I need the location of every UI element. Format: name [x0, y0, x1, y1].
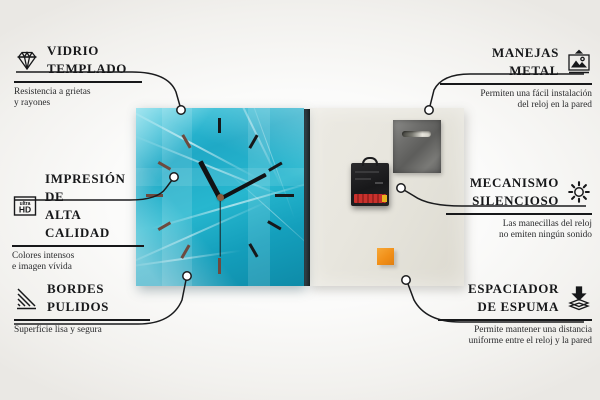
feature-impresion-alta-calidad[interactable]: ultra HD IMPRESIÓN DE ALTA CALIDAD Color…	[12, 170, 144, 273]
hour-marker-6	[218, 258, 221, 274]
feature-heading: VIDRIO TEMPLADO	[14, 42, 142, 78]
hour-marker-12	[218, 118, 221, 133]
feature-title: BORDES PULIDOS	[47, 280, 109, 316]
product-image	[136, 108, 464, 286]
diamond-icon	[14, 47, 40, 73]
arrow-onto-layers-icon	[566, 285, 592, 311]
feature-title: MECANISMO SILENCIOSO	[470, 174, 559, 210]
quartz-clock-mechanism	[351, 163, 389, 206]
divider	[12, 245, 144, 247]
mechanism-hook	[362, 157, 378, 166]
feature-title: VIDRIO TEMPLADO	[47, 42, 127, 78]
clock-back-panel	[309, 108, 464, 286]
feature-description: Resistencia a grietas y rayones	[14, 87, 142, 110]
feature-heading: MANEJAS METAL	[440, 44, 592, 80]
feature-description: Superficie lisa y segura	[14, 325, 150, 336]
ultra-hd-icon: ultra HD	[12, 193, 38, 219]
mechanism-detail	[375, 182, 383, 184]
feature-bordes-pulidos[interactable]: BORDES PULIDOS Superficie lisa y segura	[14, 280, 150, 336]
hanger-slot	[402, 131, 431, 137]
feature-title: ESPACIADOR DE ESPUMA	[468, 280, 559, 316]
feature-title: MANEJAS METAL	[492, 44, 559, 80]
hour-marker-3	[275, 194, 294, 197]
mechanism-detail	[355, 171, 379, 173]
feature-heading: BORDES PULIDOS	[14, 280, 150, 316]
feature-description: Las manecillas del reloj no emiten ningú…	[446, 219, 592, 242]
hour-marker-9	[146, 194, 163, 197]
picture-frame-hanging-icon	[566, 49, 592, 75]
clock-center-pin	[217, 194, 224, 201]
battery-terminal	[382, 195, 387, 202]
svg-text:HD: HD	[19, 205, 31, 215]
feature-vidrio-templado[interactable]: VIDRIO TEMPLADO Resistencia a grietas y …	[14, 42, 142, 109]
feature-mecanismo-silencioso[interactable]: MECANISMO SILENCIOSO Las manecillas del …	[446, 174, 592, 241]
infographic-stage: VIDRIO TEMPLADO Resistencia a grietas y …	[0, 0, 600, 400]
polished-edge-icon	[14, 285, 40, 311]
divider	[446, 213, 592, 215]
feature-espaciador-de-espuma[interactable]: ESPACIADOR DE ESPUMA Permite mantener un…	[438, 280, 592, 347]
metal-hanger-plate	[393, 120, 441, 173]
feature-heading: ultra HD IMPRESIÓN DE ALTA CALIDAD	[12, 170, 144, 242]
feature-heading: MECANISMO SILENCIOSO	[446, 174, 592, 210]
divider	[14, 319, 150, 321]
divider	[438, 319, 592, 321]
feature-title: IMPRESIÓN DE ALTA CALIDAD	[45, 170, 144, 242]
mechanism-detail	[355, 178, 371, 180]
feature-description: Permiten una fácil instalación del reloj…	[440, 89, 592, 112]
feature-manejas-metal[interactable]: MANEJAS METAL Permiten una fácil instala…	[440, 44, 592, 111]
feature-heading: ESPACIADOR DE ESPUMA	[438, 280, 592, 316]
feature-description: Permite mantener una distancia uniforme …	[438, 325, 592, 348]
divider	[14, 81, 142, 83]
gear-icon	[566, 179, 592, 205]
clock-second-hand	[219, 198, 220, 256]
clock-face-turquoise-feathers	[136, 108, 304, 286]
divider	[440, 83, 592, 85]
orange-foam-spacer	[377, 248, 394, 265]
feature-description: Colores intensos e imagen vívida	[12, 251, 144, 274]
